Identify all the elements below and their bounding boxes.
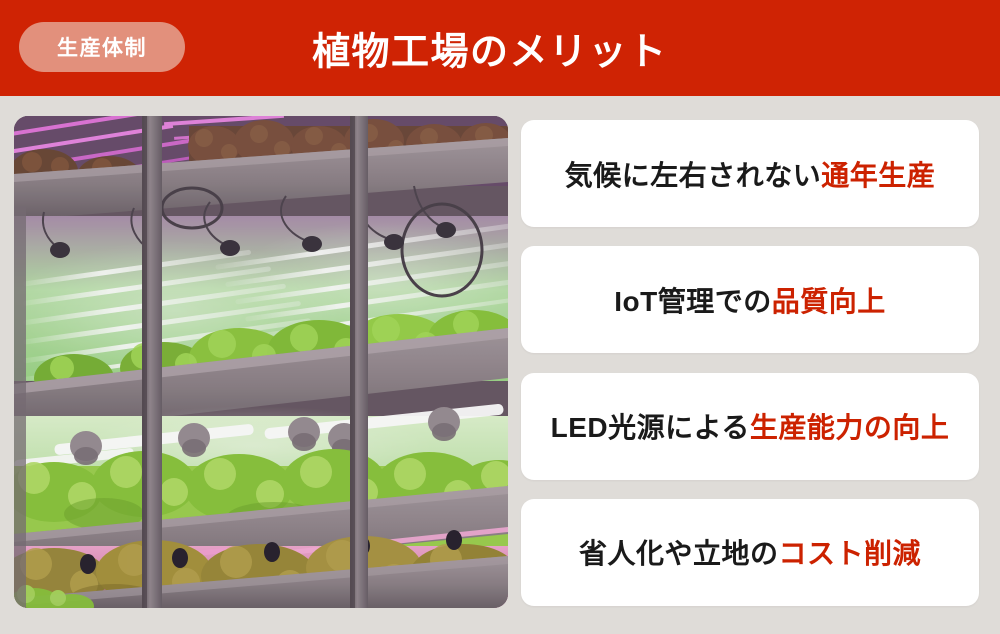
page-title: 植物工場のメリット xyxy=(312,21,668,76)
benefit-card-year-round-production: 気候に左右されない通年生産 xyxy=(521,120,979,227)
benefit-plain-text: 気候に左右されない xyxy=(565,160,822,191)
benefit-card-text: 気候に左右されない通年生産 xyxy=(565,154,936,194)
benefit-card-text: 省人化や立地のコスト削減 xyxy=(579,532,921,572)
category-badge-label: 生産体制 xyxy=(57,32,147,62)
benefit-accent-text: コスト削減 xyxy=(779,538,922,569)
benefit-plain-text: LED光源による xyxy=(551,412,750,443)
slide-root: 生産体制 植物工場のメリット xyxy=(0,0,1000,634)
benefit-accent-text: 品質向上 xyxy=(772,286,886,317)
benefit-card-production-capacity: LED光源による生産能力の向上 xyxy=(521,373,979,480)
benefit-card-cost-reduction: 省人化や立地のコスト削減 xyxy=(521,499,979,606)
category-badge: 生産体制 xyxy=(19,22,185,72)
benefit-card-text: IoT管理での品質向上 xyxy=(614,280,886,320)
plant-factory-illustration xyxy=(14,116,508,608)
header-bar: 生産体制 植物工場のメリット xyxy=(0,0,1000,96)
plant-factory-photo xyxy=(14,116,508,608)
benefit-card-list: 気候に左右されない通年生産 IoT管理での品質向上 LED光源による生産能力の向… xyxy=(521,120,979,606)
benefit-accent-text: 通年生産 xyxy=(821,160,935,191)
benefit-plain-text: IoT管理での xyxy=(614,286,772,317)
benefit-accent-text: 生産能力の向上 xyxy=(750,412,950,443)
benefit-card-text: LED光源による生産能力の向上 xyxy=(551,406,950,446)
benefit-card-quality-improvement: IoT管理での品質向上 xyxy=(521,246,979,353)
benefit-plain-text: 省人化や立地の xyxy=(579,538,779,569)
